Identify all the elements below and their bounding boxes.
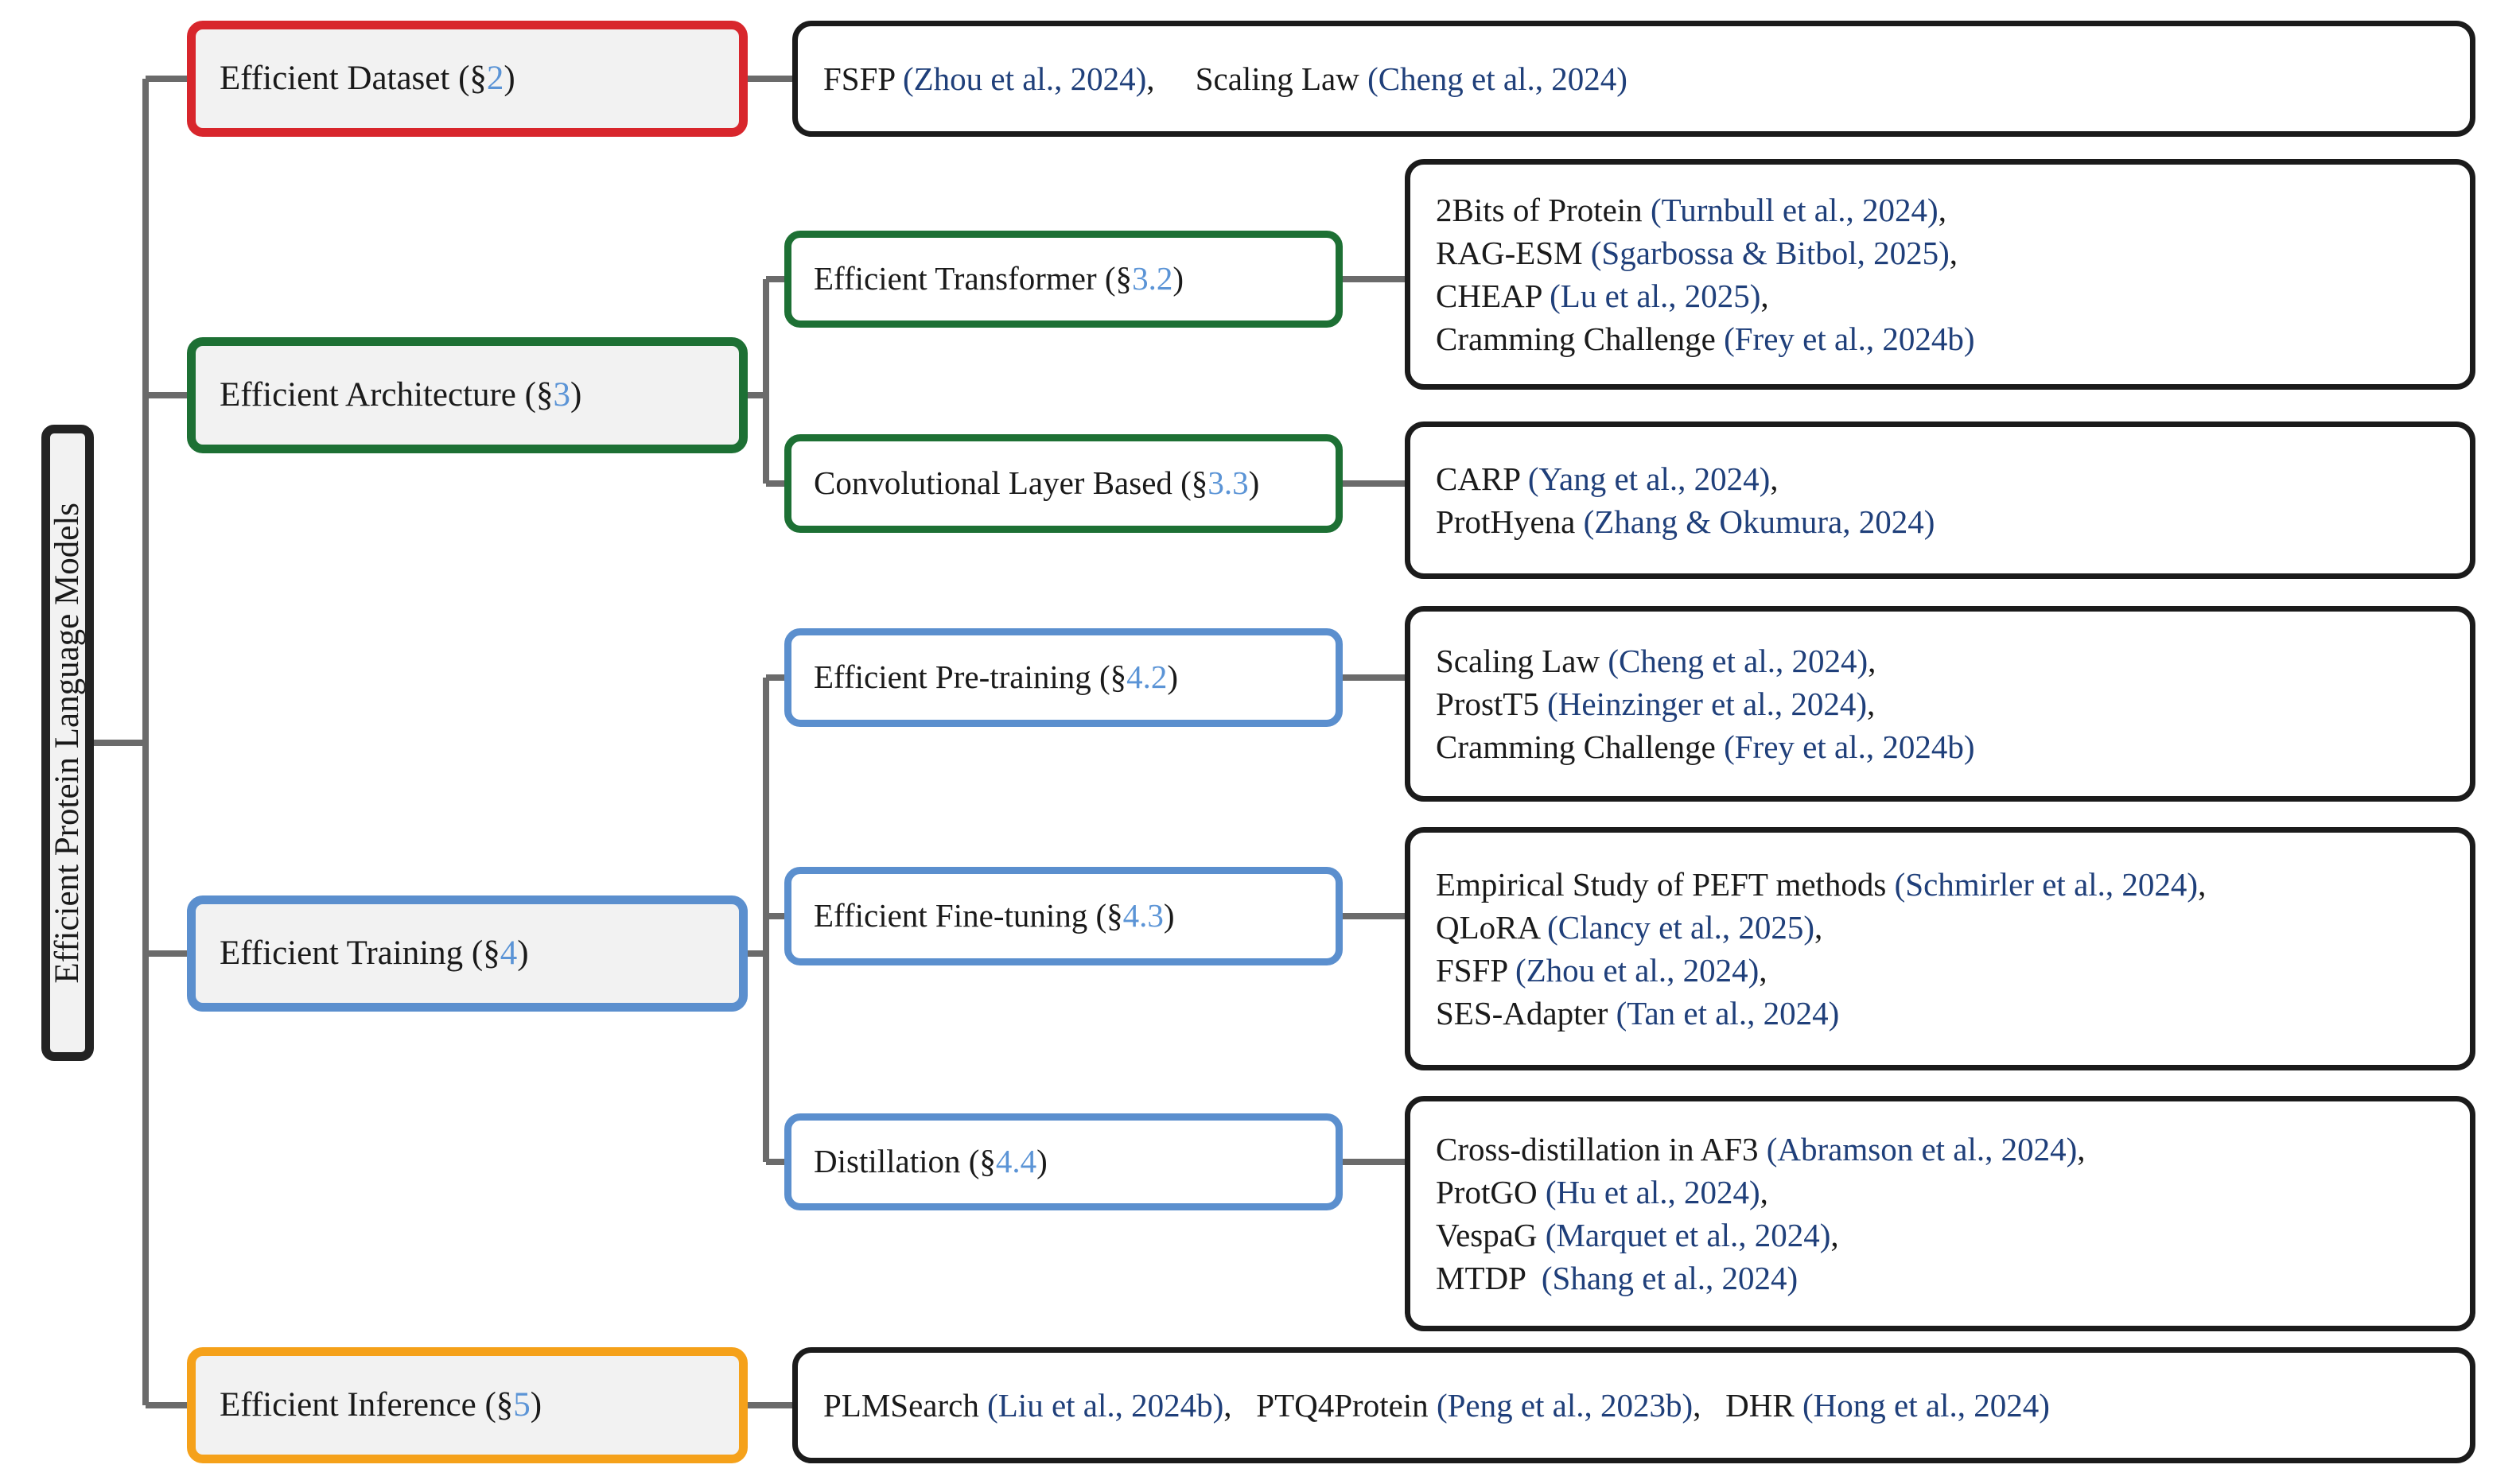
section-number: 4.2 <box>1126 658 1167 695</box>
reference-citation[interactable]: (Liu et al., 2024b) <box>987 1387 1223 1424</box>
reference-citation[interactable]: (Lu et al., 2025) <box>1550 278 1760 314</box>
reference-name: DHR <box>1725 1387 1802 1424</box>
reference-separator: , <box>1760 1174 1768 1210</box>
reference-separator: , <box>1223 1387 1231 1424</box>
reference-name: 2Bits of Protein <box>1436 192 1651 228</box>
subcategory-label: Distillation (§4.4) <box>814 1140 1336 1183</box>
reference-separator: , <box>1868 643 1876 679</box>
reference-name: MTDP <box>1436 1260 1542 1296</box>
reference-name: CHEAP <box>1436 278 1550 314</box>
reference-citation[interactable]: (Zhou et al., 2024) <box>903 60 1146 97</box>
root-label: Efficient Protein Language Models <box>45 503 90 984</box>
reference-citation[interactable]: (Cheng et al., 2024) <box>1367 60 1627 97</box>
category-label: Efficient Inference (§5) <box>220 1383 739 1428</box>
reference-separator: , <box>2077 1131 2085 1167</box>
reference-separator: , <box>2198 866 2206 903</box>
root-node[interactable]: Efficient Protein Language Models <box>41 425 94 1061</box>
leaf-references-pretrain[interactable]: Scaling Law (Cheng et al., 2024),ProstT5… <box>1405 606 2475 802</box>
reference-list: 2Bits of Protein (Turnbull et al., 2024)… <box>1436 188 2444 360</box>
section-number: 4.4 <box>996 1143 1036 1179</box>
leaf-references-distill[interactable]: Cross-distillation in AF3 (Abramson et a… <box>1405 1096 2475 1331</box>
leaf-references-finetune[interactable]: Empirical Study of PEFT methods (Schmirl… <box>1405 827 2475 1070</box>
leaf-references-inference[interactable]: PLMSearch (Liu et al., 2024b), PTQ4Prote… <box>792 1347 2475 1463</box>
category-label: Efficient Training (§4) <box>220 931 739 976</box>
reference-citation[interactable]: (Tan et al., 2024) <box>1616 995 1840 1031</box>
reference-separator: , <box>1939 192 1946 228</box>
reference-name: FSFP <box>823 60 903 97</box>
reference-citation[interactable]: (Schmirler et al., 2024) <box>1895 866 2198 903</box>
section-number: 3 <box>553 376 570 414</box>
reference-list: PLMSearch (Liu et al., 2024b), PTQ4Prote… <box>823 1384 2444 1427</box>
reference-citation[interactable]: (Marquet et al., 2024) <box>1546 1217 1831 1253</box>
reference-name: RAG-ESM <box>1436 235 1591 271</box>
reference-list: Scaling Law (Cheng et al., 2024),ProstT5… <box>1436 639 2444 768</box>
reference-citation[interactable]: (Zhang & Okumura, 2024) <box>1584 503 1935 540</box>
reference-list: Cross-distillation in AF3 (Abramson et a… <box>1436 1128 2444 1299</box>
subcategory-efficient-pre-training[interactable]: Efficient Pre-training (§4.2) <box>784 628 1343 727</box>
reference-name: CARP <box>1436 460 1528 497</box>
subcategory-convolutional-layer-based[interactable]: Convolutional Layer Based (§3.3) <box>784 434 1343 533</box>
reference-citation[interactable]: (Cheng et al., 2024) <box>1608 643 1868 679</box>
leaf-references-dataset[interactable]: FSFP (Zhou et al., 2024), Scaling Law (C… <box>792 21 2475 137</box>
category-efficient-inference[interactable]: Efficient Inference (§5) <box>187 1347 748 1463</box>
reference-citation[interactable]: (Peng et al., 2023b) <box>1437 1387 1693 1424</box>
category-efficient-training[interactable]: Efficient Training (§4) <box>187 895 748 1012</box>
reference-name: Cramming Challenge <box>1436 320 1724 357</box>
reference-separator: , <box>1950 235 1958 271</box>
category-label: Efficient Architecture (§3) <box>220 373 739 418</box>
reference-citation[interactable]: (Heinzinger et al., 2024) <box>1547 686 1867 722</box>
reference-citation[interactable]: (Turnbull et al., 2024) <box>1651 192 1939 228</box>
subcategory-label: Efficient Pre-training (§4.2) <box>814 656 1336 698</box>
reference-name: Empirical Study of PEFT methods <box>1436 866 1895 903</box>
section-number: 5 <box>513 1386 531 1424</box>
reference-name: ProstT5 <box>1436 686 1547 722</box>
category-label: Efficient Dataset (§2) <box>220 56 739 101</box>
reference-citation[interactable]: (Sgarbossa & Bitbol, 2025) <box>1591 235 1950 271</box>
reference-citation[interactable]: (Hu et al., 2024) <box>1546 1174 1760 1210</box>
reference-name: PTQ4Protein <box>1256 1387 1437 1424</box>
subcategory-efficient-fine-tuning[interactable]: Efficient Fine-tuning (§4.3) <box>784 867 1343 965</box>
reference-separator: , <box>1146 60 1154 97</box>
reference-separator: , <box>1760 278 1768 314</box>
section-number: 4 <box>500 934 518 972</box>
reference-separator: , <box>1770 460 1778 497</box>
reference-separator: , <box>1814 909 1822 946</box>
category-efficient-dataset[interactable]: Efficient Dataset (§2) <box>187 21 748 137</box>
subcategory-efficient-transformer[interactable]: Efficient Transformer (§3.2) <box>784 231 1343 328</box>
taxonomy-diagram: Efficient Protein Language Models Effici… <box>0 0 2516 1484</box>
reference-name: VespaG <box>1436 1217 1546 1253</box>
category-efficient-architecture[interactable]: Efficient Architecture (§3) <box>187 337 748 453</box>
subcategory-label: Convolutional Layer Based (§3.3) <box>814 462 1336 504</box>
reference-separator: , <box>1830 1217 1838 1253</box>
reference-name: Scaling Law <box>1436 643 1608 679</box>
reference-separator: , <box>1759 952 1767 989</box>
reference-citation[interactable]: (Shang et al., 2024) <box>1542 1260 1798 1296</box>
reference-name: ProtHyena <box>1436 503 1584 540</box>
section-number: 3.3 <box>1207 464 1248 501</box>
reference-list: CARP (Yang et al., 2024),ProtHyena (Zhan… <box>1436 457 2444 543</box>
reference-name: QLoRA <box>1436 909 1547 946</box>
reference-citation[interactable]: (Hong et al., 2024) <box>1802 1387 2050 1424</box>
reference-name: Cross-distillation in AF3 <box>1436 1131 1767 1167</box>
section-number: 3.2 <box>1132 260 1172 297</box>
section-number: 4.3 <box>1123 897 1164 934</box>
reference-name: Scaling Law <box>1196 60 1367 97</box>
reference-name: Cramming Challenge <box>1436 728 1724 765</box>
reference-separator: , <box>1867 686 1875 722</box>
reference-list: Empirical Study of PEFT methods (Schmirl… <box>1436 863 2444 1035</box>
reference-citation[interactable]: (Clancy et al., 2025) <box>1547 909 1814 946</box>
reference-citation[interactable]: (Zhou et al., 2024) <box>1515 952 1759 989</box>
subcategory-distillation[interactable]: Distillation (§4.4) <box>784 1113 1343 1210</box>
subcategory-label: Efficient Transformer (§3.2) <box>814 258 1336 300</box>
reference-name: ProtGO <box>1436 1174 1546 1210</box>
reference-citation[interactable]: (Abramson et al., 2024) <box>1767 1131 2078 1167</box>
section-number: 2 <box>487 60 504 97</box>
reference-name: SES-Adapter <box>1436 995 1616 1031</box>
leaf-references-conv[interactable]: CARP (Yang et al., 2024),ProtHyena (Zhan… <box>1405 422 2475 579</box>
leaf-references-transformer[interactable]: 2Bits of Protein (Turnbull et al., 2024)… <box>1405 159 2475 390</box>
reference-citation[interactable]: (Yang et al., 2024) <box>1528 460 1770 497</box>
reference-citation[interactable]: (Frey et al., 2024b) <box>1724 320 1974 357</box>
reference-name: FSFP <box>1436 952 1515 989</box>
reference-separator: , <box>1693 1387 1701 1424</box>
reference-name: PLMSearch <box>823 1387 987 1424</box>
reference-citation[interactable]: (Frey et al., 2024b) <box>1724 728 1974 765</box>
subcategory-label: Efficient Fine-tuning (§4.3) <box>814 895 1336 937</box>
reference-list: FSFP (Zhou et al., 2024), Scaling Law (C… <box>823 57 2444 100</box>
